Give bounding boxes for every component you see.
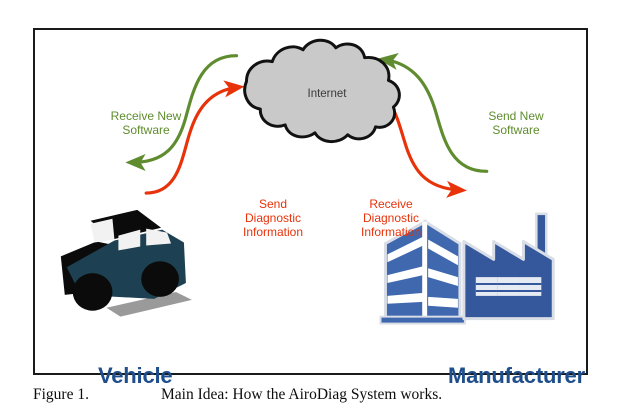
figure-caption-number: Figure 1. <box>33 386 161 404</box>
figure-caption-text: Main Idea: How the AiroDiag System works… <box>161 386 442 404</box>
flow-label-receive-new-software: Receive New Software <box>83 109 209 137</box>
arrow-send-diagnostic-information <box>146 87 237 193</box>
factory-icon <box>464 214 553 319</box>
figure-container: Internet Receive New Software Send New S… <box>0 0 640 417</box>
flow-label-receive-diagnostic-information: Receive Diagnostic Information <box>335 197 447 239</box>
flow-label-send-diagnostic-information: Send Diagnostic Information <box>218 197 328 239</box>
flow-label-send-new-software: Send New Software <box>455 109 577 137</box>
figure-caption: Figure 1. Main Idea: How the AiroDiag Sy… <box>33 386 613 410</box>
diagram-frame: Internet Receive New Software Send New S… <box>33 28 588 375</box>
internet-cloud-label: Internet <box>285 88 369 102</box>
car-icon <box>61 210 192 317</box>
